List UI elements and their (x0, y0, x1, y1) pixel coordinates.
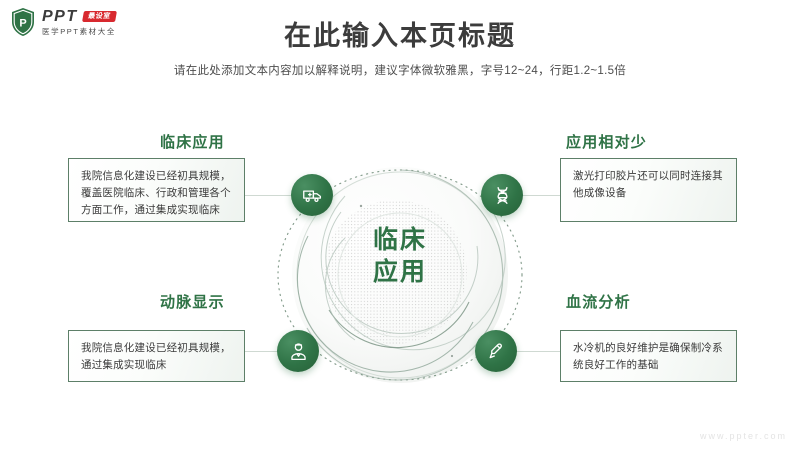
card-top-right[interactable]: 激光打印胶片还可以同时连接其他成像设备 (560, 158, 737, 222)
connector-line-top-right (520, 195, 560, 196)
card-title-bottom-right: 血流分析 (566, 291, 631, 312)
card-body-top-left: 我院信息化建设已经初具规模，覆盖医院临床、行政和管理各个方面工作，通过集成实现临… (81, 168, 232, 219)
node-top-left[interactable] (291, 174, 333, 216)
card-top-left[interactable]: 我院信息化建设已经初具规模，覆盖医院临床、行政和管理各个方面工作，通过集成实现临… (68, 158, 245, 222)
thermometer-icon (486, 341, 507, 362)
node-bottom-left[interactable] (277, 330, 319, 372)
doctor-icon (288, 341, 309, 362)
card-title-bottom-left: 动脉显示 (160, 291, 225, 312)
center-label-line1: 临床 (245, 224, 555, 256)
connector-line-bottom-right (514, 351, 562, 352)
card-title-top-right: 应用相对少 (566, 131, 647, 152)
slide-canvas: P PPT 最设室 医学PPT素材大全 在此输入本页标题 请在此处添加文本内容加… (0, 0, 800, 450)
dna-icon (492, 185, 513, 206)
ambulance-icon (302, 185, 323, 206)
page-subtitle: 请在此处添加文本内容加以解释说明，建议字体微软雅黑，字号12~24，行距1.2~… (0, 62, 800, 78)
node-top-right[interactable] (481, 174, 523, 216)
card-bottom-left[interactable]: 我院信息化建设已经初具规模，通过集成实现临床 (68, 330, 245, 382)
node-bottom-right[interactable] (475, 330, 517, 372)
footer-watermark: www.ppter.com (700, 431, 787, 441)
card-body-top-right: 激光打印胶片还可以同时连接其他成像设备 (573, 168, 724, 202)
center-label-line2: 应用 (245, 256, 555, 288)
connector-line-top-left (245, 195, 297, 196)
page-title: 在此输入本页标题 (0, 14, 800, 53)
card-title-top-left: 临床应用 (160, 131, 225, 152)
card-body-bottom-left: 我院信息化建设已经初具规模，通过集成实现临床 (81, 340, 232, 374)
card-bottom-right[interactable]: 水冷机的良好维护是确保制冷系统良好工作的基础 (560, 330, 737, 382)
card-body-bottom-right: 水冷机的良好维护是确保制冷系统良好工作的基础 (573, 340, 724, 374)
center-label: 临床 应用 (245, 224, 555, 288)
